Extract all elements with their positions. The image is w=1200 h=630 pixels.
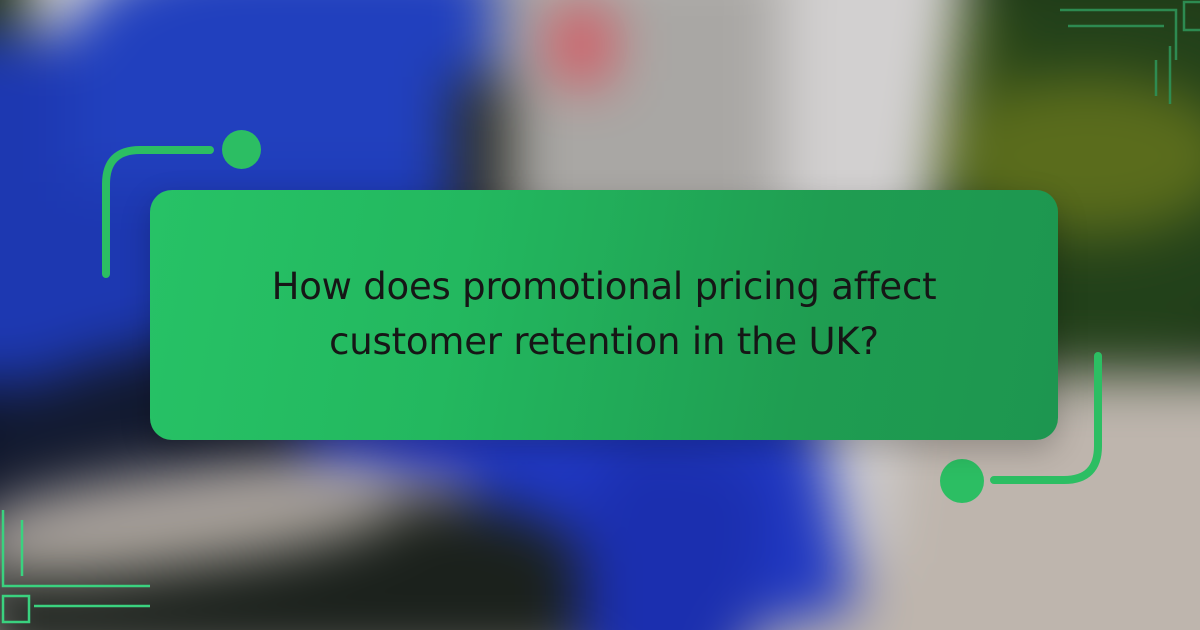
circuit-trace-icon — [0, 510, 150, 630]
circuit-trace-corner-bottom-left — [0, 510, 150, 630]
circuit-trace-corner-top-right — [1060, 0, 1200, 130]
promo-card-banner: How does promotional pricing affect cust… — [0, 0, 1200, 630]
accent-dot-top-left — [222, 130, 261, 169]
circuit-trace-icon — [1060, 0, 1200, 130]
accent-dot-bottom-right — [940, 459, 984, 503]
question-text: How does promotional pricing affect cust… — [264, 260, 944, 370]
question-card: How does promotional pricing affect cust… — [150, 190, 1058, 440]
background-laptop-sticker — [552, 8, 610, 82]
